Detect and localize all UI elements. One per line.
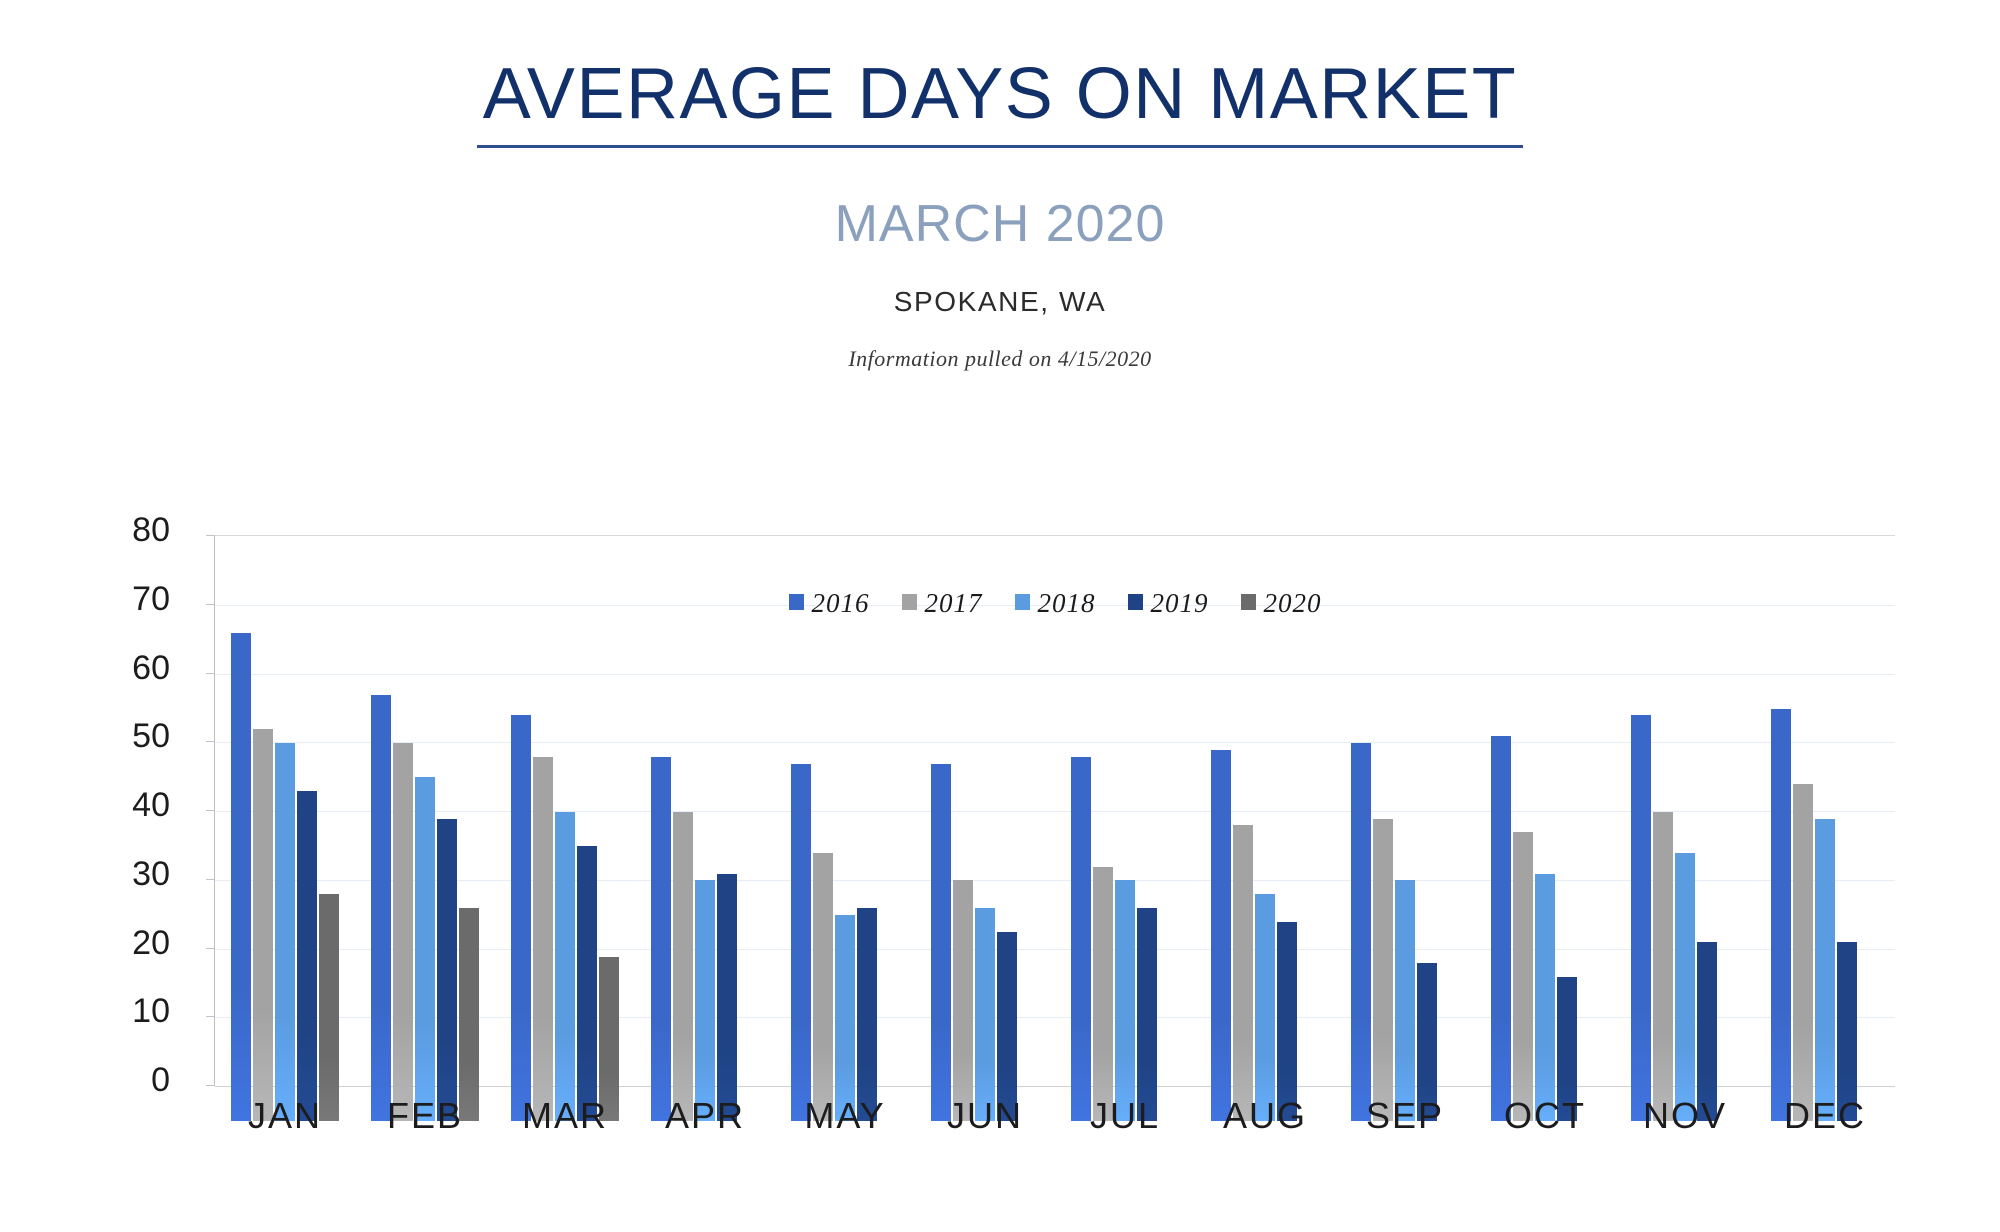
bar-group [635,571,775,1121]
bar-2017-NOV[interactable] [1653,812,1673,1121]
y-axis-tick-mark [206,948,215,949]
market-location: SPOKANE, WA [0,286,2000,318]
bar-2018-AUG[interactable] [1255,894,1275,1121]
bar-2017-FEB[interactable] [393,743,413,1121]
bar-2018-MAY[interactable] [835,915,855,1121]
bar-group [1195,571,1335,1121]
y-axis-tick-mark [206,1085,215,1086]
y-axis-tick-mark [206,741,215,742]
bar-2017-MAY[interactable] [813,853,833,1121]
bar-2018-FEB[interactable] [415,777,435,1121]
page-subtitle: MARCH 2020 [0,194,2000,254]
bar-group [1615,571,1755,1121]
x-axis-label-MAR: MAR [495,1095,635,1137]
x-axis-label-OCT: OCT [1475,1095,1615,1137]
page-header: AVERAGE DAYS ON MARKET MARCH 2020 SPOKAN… [0,0,2000,372]
y-axis-tick-label: 50 [0,717,170,756]
page-title: AVERAGE DAYS ON MARKET [483,58,1518,131]
bar-2017-MAR[interactable] [533,757,553,1121]
x-axis-label-AUG: AUG [1195,1095,1335,1137]
bar-2019-MAY[interactable] [857,908,877,1121]
bar-2019-FEB[interactable] [437,819,457,1122]
y-axis-tick-label: 40 [0,786,170,825]
bar-2016-FEB[interactable] [371,695,391,1121]
bar-2016-NOV[interactable] [1631,715,1651,1121]
bar-2017-APR[interactable] [673,812,693,1121]
bar-2017-AUG[interactable] [1233,825,1253,1121]
bar-2016-JUN[interactable] [931,764,951,1122]
bar-2019-JUN[interactable] [997,932,1017,1121]
bar-2020-JAN[interactable] [319,894,339,1121]
y-axis-tick-label: 80 [0,511,170,550]
bar-2017-JUL[interactable] [1093,867,1113,1121]
bar-2017-DEC[interactable] [1793,784,1813,1121]
bar-group [1055,571,1195,1121]
bar-2017-SEP[interactable] [1373,819,1393,1122]
bar-group [775,571,915,1121]
bar-2018-OCT[interactable] [1535,874,1555,1122]
bar-group [915,571,1055,1121]
x-axis-label-APR: APR [635,1095,775,1137]
bar-group [355,571,495,1121]
x-axis-label-FEB: FEB [355,1095,495,1137]
bar-2016-DEC[interactable] [1771,709,1791,1122]
bar-2020-FEB[interactable] [459,908,479,1121]
bar-2018-MAR[interactable] [555,812,575,1121]
bar-2017-OCT[interactable] [1513,832,1533,1121]
y-axis-tick-mark [206,604,215,605]
y-axis-tick-mark [206,879,215,880]
bar-group [495,571,635,1121]
bar-2018-NOV[interactable] [1675,853,1695,1121]
bar-2016-AUG[interactable] [1211,750,1231,1121]
bar-2019-AUG[interactable] [1277,922,1297,1121]
title-block: AVERAGE DAYS ON MARKET [477,58,1524,148]
bar-group [1335,571,1475,1121]
y-axis-tick-label: 10 [0,992,170,1031]
bar-2018-SEP[interactable] [1395,880,1415,1121]
bar-group [215,571,355,1121]
bar-2016-APR[interactable] [651,757,671,1121]
bar-2017-JUN[interactable] [953,880,973,1121]
data-pulled-note: Information pulled on 4/15/2020 [0,346,2000,372]
y-axis-tick-label: 20 [0,924,170,963]
x-axis-labels: JANFEBMARAPRMAYJUNJULAUGSEPOCTNOVDEC [215,1095,1895,1137]
bar-2016-JUL[interactable] [1071,757,1091,1121]
bar-2018-JUN[interactable] [975,908,995,1121]
y-axis-tick-label: 60 [0,649,170,688]
bar-2016-SEP[interactable] [1351,743,1371,1121]
bar-2018-APR[interactable] [695,880,715,1121]
y-axis-tick-label: 70 [0,580,170,619]
y-axis-tick-label: 30 [0,855,170,894]
plot-area: 20162017201820192020 [215,535,1895,1086]
bar-2017-JAN[interactable] [253,729,273,1121]
x-axis-label-DEC: DEC [1755,1095,1895,1137]
bar-2019-APR[interactable] [717,874,737,1122]
bar-2019-MAR[interactable] [577,846,597,1121]
bar-groups [215,571,1895,1121]
bar-group [1475,571,1615,1121]
x-axis-label-JAN: JAN [215,1095,355,1137]
bar-group [1755,571,1895,1121]
y-axis-tick-mark [206,810,215,811]
bar-2018-DEC[interactable] [1815,819,1835,1122]
y-axis-tick-mark [206,535,215,536]
y-axis-tick-mark [206,1016,215,1017]
y-axis-tick-mark [206,673,215,674]
bar-2018-JUL[interactable] [1115,880,1135,1121]
bar-chart: 20162017201820192020 80706050403020100 J… [0,500,2000,1180]
x-axis-label-JUL: JUL [1055,1095,1195,1137]
bar-2019-JAN[interactable] [297,791,317,1121]
x-axis-label-MAY: MAY [775,1095,915,1137]
bar-2016-MAR[interactable] [511,715,531,1121]
bar-2018-JAN[interactable] [275,743,295,1121]
bar-2016-MAY[interactable] [791,764,811,1122]
y-axis-tick-label: 0 [0,1061,170,1100]
bar-2016-OCT[interactable] [1491,736,1511,1121]
bar-2019-JUL[interactable] [1137,908,1157,1121]
x-axis-label-NOV: NOV [1615,1095,1755,1137]
x-axis-label-JUN: JUN [915,1095,1055,1137]
x-axis-label-SEP: SEP [1335,1095,1475,1137]
bar-2016-JAN[interactable] [231,633,251,1121]
